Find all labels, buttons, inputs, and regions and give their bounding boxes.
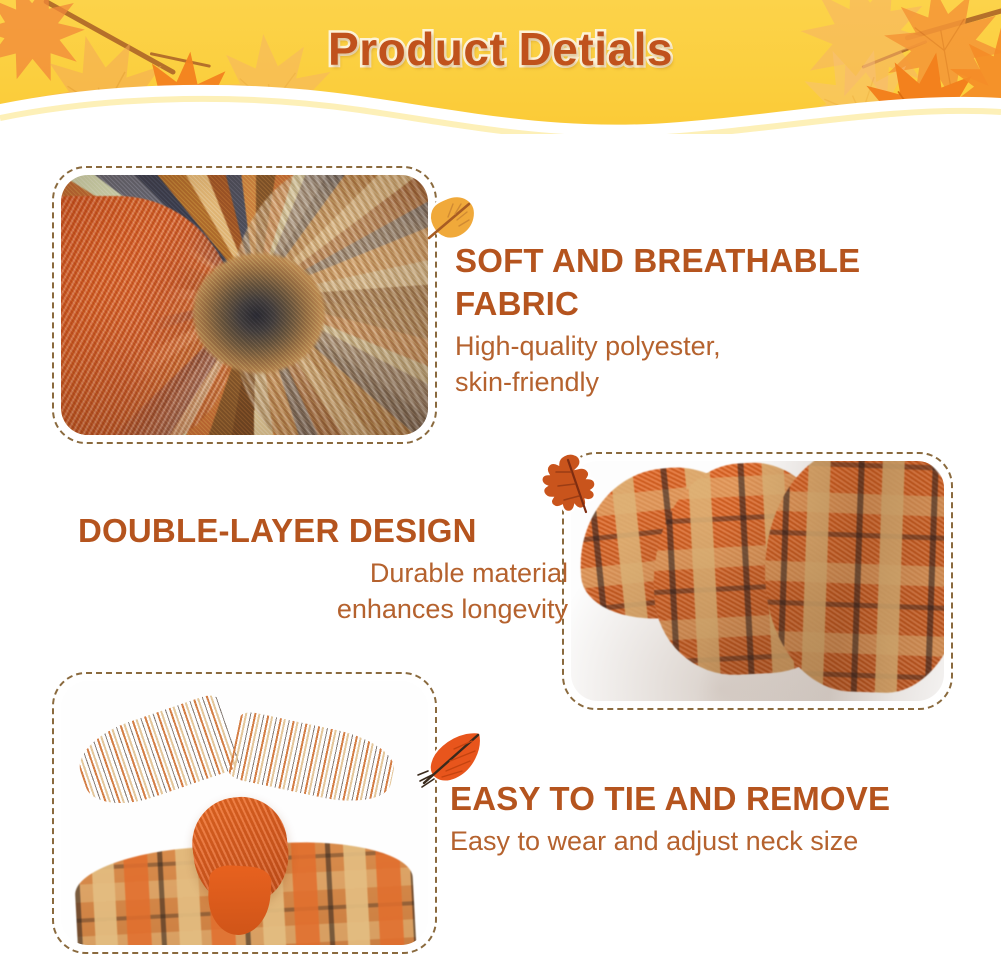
feature-heading: EASY TO TIE AND REMOVE (450, 778, 995, 821)
pointed-leaf-icon (418, 727, 490, 795)
shadow-overlay (571, 461, 944, 701)
vignette-overlay (61, 175, 428, 435)
feature-text-double-layer-design: DOUBLE-LAYER DESIGN Durable material enh… (78, 510, 568, 628)
product-photo-swirled-plaid (61, 175, 428, 435)
page-title: Product Detials (0, 22, 1001, 76)
oak-leaf-icon (528, 450, 606, 522)
feature-body: Easy to wear and adjust neck size (450, 824, 995, 860)
product-photo-frame-layers (562, 452, 953, 710)
product-details-infographic: Product Detials (0, 0, 1001, 954)
wave-divider (0, 74, 1001, 134)
poplar-leaf-icon (417, 190, 483, 252)
product-photo-folded-plaid (571, 461, 944, 701)
feature-body: Durable material enhances longevity (78, 556, 568, 628)
feature-heading: SOFT AND BREATHABLE FABRIC (455, 240, 975, 326)
feature-heading: DOUBLE-LAYER DESIGN (78, 510, 568, 553)
feature-text-easy-to-tie-and-remove: EASY TO TIE AND REMOVE Easy to wear and … (450, 778, 995, 860)
feature-text-soft-and-breathable-fabric: SOFT AND BREATHABLE FABRIC High-quality … (455, 240, 975, 401)
feature-body: High-quality polyester, skin-friendly (455, 329, 975, 401)
header-banner: Product Detials (0, 0, 1001, 134)
product-photo-knotted-scarf (61, 681, 428, 945)
product-photo-frame-fabric (52, 166, 437, 444)
product-photo-frame-knot (52, 672, 437, 954)
